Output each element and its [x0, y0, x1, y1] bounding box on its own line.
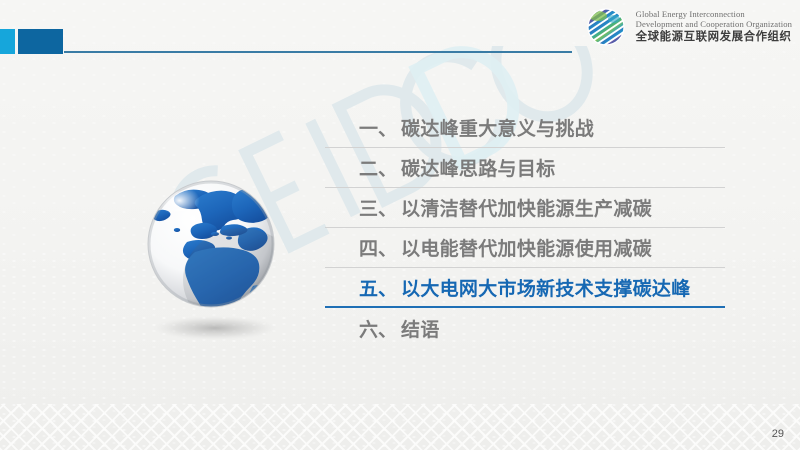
- logo-text-block: Global Energy Interconnection Developmen…: [636, 9, 792, 45]
- agenda-item-4[interactable]: 四、 以电能替代加快能源使用减碳: [325, 228, 725, 268]
- agenda-item-label: 以清洁替代加快能源生产减碳: [401, 194, 652, 221]
- logo-line-2: Development and Cooperation Organization: [636, 19, 792, 29]
- agenda-item-number: 二、: [359, 154, 397, 181]
- geidco-logo: Global Energy Interconnection Developmen…: [584, 5, 792, 49]
- agenda-item-2[interactable]: 二、 碳达峰思路与目标: [325, 148, 725, 188]
- agenda-item-number: 一、: [359, 114, 397, 141]
- agenda-item-label: 以电能替代加快能源使用减碳: [401, 234, 652, 261]
- agenda-item-3[interactable]: 三、 以清洁替代加快能源生产减碳: [325, 188, 725, 228]
- agenda-item-number: 三、: [359, 194, 397, 221]
- globe-illustration: [137, 168, 305, 353]
- background-weave: [0, 404, 800, 450]
- agenda-item-number: 四、: [359, 234, 397, 261]
- header-rule: [64, 51, 572, 53]
- logo-line-1: Global Energy Interconnection: [636, 9, 792, 19]
- agenda-item-6[interactable]: 六、 结语: [325, 308, 725, 348]
- logo-line-3: 全球能源互联网发展合作组织: [636, 31, 792, 44]
- agenda-list: 一、 碳达峰重大意义与挑战 二、 碳达峰思路与目标 三、 以清洁替代加快能源生产…: [325, 108, 725, 348]
- agenda-item-number: 六、: [359, 315, 397, 342]
- decor-square-cyan: [0, 29, 15, 54]
- agenda-item-1[interactable]: 一、 碳达峰重大意义与挑战: [325, 108, 725, 148]
- agenda-item-label: 结语: [401, 315, 440, 342]
- geidco-globe-logo-icon: [584, 5, 628, 49]
- agenda-item-label: 以大电网大市场新技术支撑碳达峰: [401, 274, 691, 301]
- decor-rect-blue: [18, 29, 63, 54]
- agenda-item-label: 碳达峰思路与目标: [401, 154, 555, 181]
- agenda-item-number: 五、: [359, 274, 397, 301]
- presentation-slide: Global Energy Interconnection Developmen…: [0, 0, 800, 450]
- page-number: 29: [772, 428, 784, 440]
- agenda-item-label: 碳达峰重大意义与挑战: [401, 114, 594, 141]
- agenda-item-5[interactable]: 五、 以大电网大市场新技术支撑碳达峰: [325, 268, 725, 308]
